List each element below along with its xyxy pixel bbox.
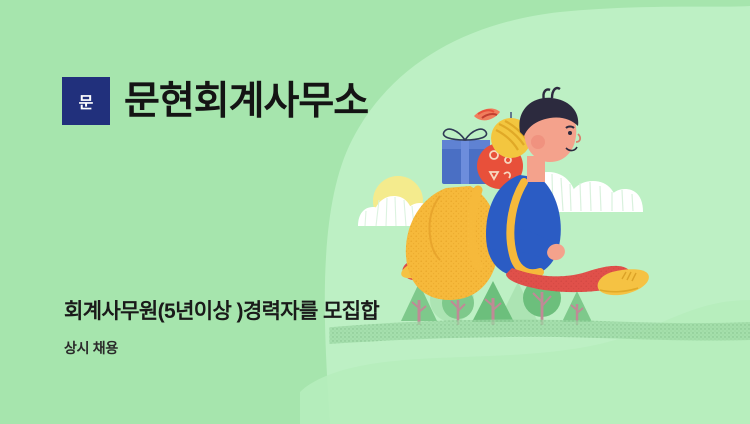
illustration [0,0,750,424]
job-posting-banner: 문 문현회계사무소 회계사무원(5년이상 )경력자를 모집합 상시 채용 [0,0,750,424]
company-logo-badge: 문 [62,77,110,125]
company-name: 문현회계사무소 [124,82,368,121]
job-headline: 회계사무원(5년이상 )경력자를 모집합 [64,295,379,325]
brand-row: 문 문현회계사무소 [62,77,368,125]
job-subline: 상시 채용 [64,338,118,358]
